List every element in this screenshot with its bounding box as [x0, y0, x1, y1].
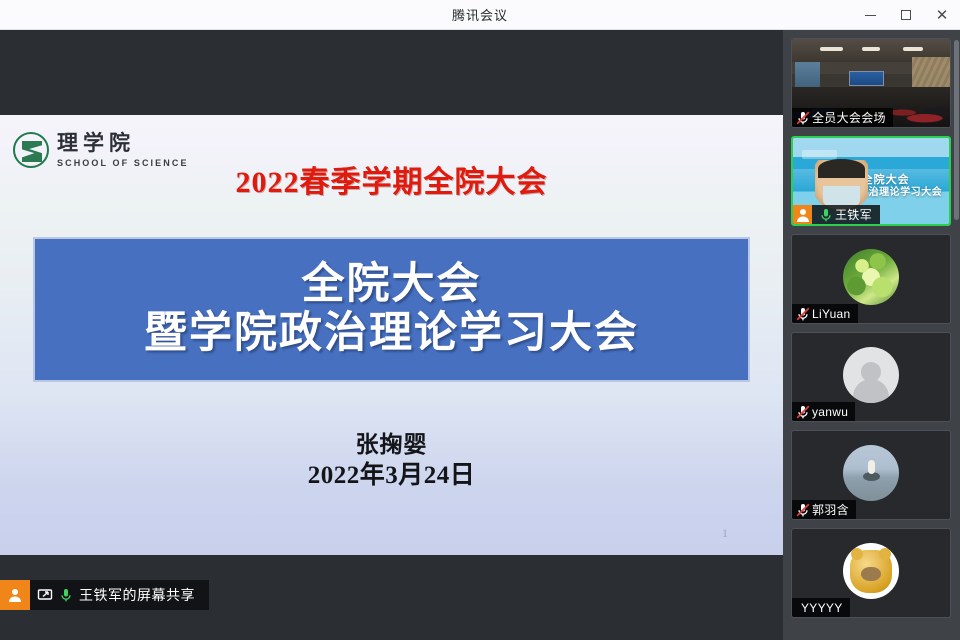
participant-name-bar: 王铁军: [793, 205, 880, 224]
close-button[interactable]: ✕: [924, 0, 960, 30]
participant-tile[interactable]: 全院大会暨政治理论学习大会王铁军: [791, 136, 951, 226]
participant-name: 全员大会会场: [812, 109, 886, 126]
participant-name: 郭羽含: [812, 501, 849, 518]
avatar: [843, 543, 899, 599]
window-title: 腾讯会议: [452, 5, 508, 24]
slide-date: 2022年3月24日: [0, 455, 783, 491]
presentation-slide: 理学院 SCHOOL OF SCIENCE 2022春季学期全院大会 全院大会 …: [0, 115, 783, 555]
shared-screen-stage[interactable]: 理学院 SCHOOL OF SCIENCE 2022春季学期全院大会 全院大会 …: [0, 30, 783, 610]
participant-name: YYYYY: [801, 601, 843, 615]
title-bar: 腾讯会议 ✕: [0, 0, 960, 30]
window-controls: ✕: [852, 0, 960, 30]
participant-tile[interactable]: LiYuan: [791, 234, 951, 324]
mic-muted-icon: [795, 110, 811, 126]
maximize-button[interactable]: [888, 0, 924, 30]
person-icon: [795, 207, 811, 223]
participant-name: LiYuan: [812, 307, 851, 321]
screen-share-icon: [37, 587, 53, 603]
participant-name-bar: LiYuan: [792, 304, 858, 323]
participant-name-bar: yanwu: [792, 402, 855, 421]
avatar: [843, 445, 899, 501]
participant-tile[interactable]: yanwu: [791, 332, 951, 422]
avatar: [843, 347, 899, 403]
mic-on-icon: [58, 587, 74, 603]
mic-status[interactable]: [792, 501, 809, 518]
participant-tile[interactable]: 全员大会会场: [791, 38, 951, 128]
screen-share-label: 王铁军的屏幕共享: [79, 585, 195, 605]
participant-tiles: 全员大会会场全院大会暨政治理论学习大会王铁军LiYuanyanwu郭羽含YYYY…: [791, 38, 953, 618]
screen-share-status-bar: 王铁军的屏幕共享: [0, 580, 209, 610]
tencent-meeting-window: 腾讯会议 ✕ 理学院 SCHOOL OF SCIENCE 2022春季学期: [0, 0, 960, 640]
slide-presenter-name: 张掬婴: [0, 425, 783, 459]
slide-headline: 2022春季学期全院大会: [0, 157, 783, 201]
rail-scrollbar-thumb[interactable]: [954, 40, 959, 220]
person-icon: [7, 587, 23, 603]
close-icon: ✕: [936, 8, 949, 23]
participant-tile[interactable]: YYYYY: [791, 528, 951, 618]
maximize-icon: [901, 10, 911, 20]
banner-line-1: 全院大会: [302, 262, 482, 308]
participant-name-bar: YYYYY: [792, 598, 850, 617]
host-badge: [793, 205, 812, 224]
banner-line-2: 暨学院政治理论学习大会: [144, 311, 639, 357]
participant-name-bar: 全员大会会场: [792, 108, 893, 127]
minimize-icon: [865, 15, 876, 16]
slide-page-number: 1: [722, 526, 728, 541]
participant-tile[interactable]: 郭羽含: [791, 430, 951, 520]
mic-status[interactable]: [792, 403, 809, 420]
logo-chinese-name: 理学院: [57, 133, 189, 154]
mic-muted-icon: [795, 404, 811, 420]
mic-status[interactable]: [792, 305, 809, 322]
mic-muted-icon: [795, 306, 811, 322]
slide-title-banner: 全院大会 暨学院政治理论学习大会: [33, 237, 750, 382]
minimize-button[interactable]: [852, 0, 888, 30]
participant-name: 王铁军: [835, 206, 872, 223]
participant-rail[interactable]: 全员大会会场全院大会暨政治理论学习大会王铁军LiYuanyanwu郭羽含YYYY…: [783, 30, 960, 640]
participant-name: yanwu: [812, 405, 848, 419]
participant-name-bar: 郭羽含: [792, 500, 856, 519]
mic-muted-icon: [795, 502, 811, 518]
share-avatar: [0, 580, 30, 610]
mic-status[interactable]: [815, 206, 832, 223]
share-info: 王铁军的屏幕共享: [30, 580, 209, 610]
mic-on-icon: [818, 207, 834, 223]
avatar: [843, 249, 899, 305]
mic-status[interactable]: [792, 109, 809, 126]
